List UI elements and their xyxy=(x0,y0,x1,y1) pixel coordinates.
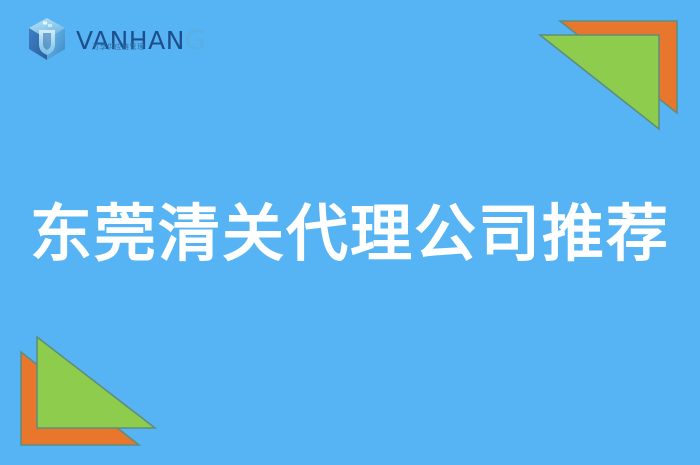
green-triangle-top-right xyxy=(540,35,659,129)
corner-triangles-top-right xyxy=(520,0,700,140)
brand-subtext: 万享供应链管理 xyxy=(92,44,145,51)
u-glyph xyxy=(43,33,51,50)
green-triangle-bottom-left xyxy=(37,337,155,428)
logo-highlight-1 xyxy=(43,22,47,25)
poster-canvas: VANHANG 万享供应链管理 东莞清关代理公司推荐 xyxy=(0,0,700,465)
brand-wordmark-block: VANHANG 万享供应链管理 xyxy=(76,25,206,54)
orange-triangle-bottom-left xyxy=(21,352,139,445)
page-title: 东莞清关代理公司推荐 xyxy=(0,198,700,270)
orange-triangle-top-right xyxy=(560,21,677,113)
brand-wordmark-accent: G xyxy=(185,25,206,56)
logo-highlight-2 xyxy=(48,24,52,27)
vanhang-cube-logo-icon xyxy=(26,16,68,62)
brand-logo: VANHANG 万享供应链管理 xyxy=(26,14,206,64)
corner-triangles-bottom-left xyxy=(0,325,180,465)
